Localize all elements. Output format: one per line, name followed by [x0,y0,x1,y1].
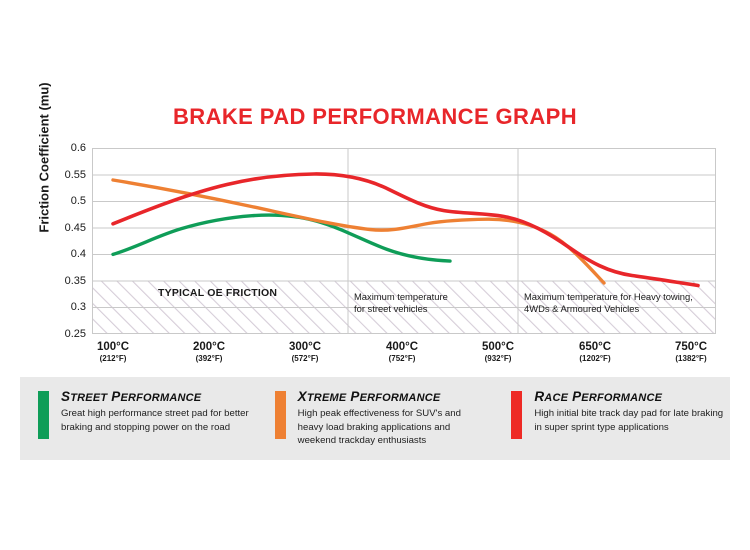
y-tick-label: 0.25 [44,328,86,340]
street-limit-label: Maximum temperature for street vehicles [354,291,514,315]
legend: STREET PERFORMANCE Great high performanc… [20,377,730,460]
x-tick-celsius: 400°C [357,341,447,353]
x-tick-celsius: 100°C [68,341,158,353]
x-tick-200c: 200°C (392°F) [164,341,254,363]
legend-item-xtreme: XTREME PERFORMANCE High peak effectivene… [257,377,494,460]
legend-desc-race: High initial bite track day pad for late… [534,407,724,434]
x-tick-celsius: 200°C [164,341,254,353]
x-tick-fahrenheit: (932°F) [453,354,543,363]
y-tick-label: 0.6 [44,142,86,154]
legend-swatch-race [511,391,522,439]
x-tick-100c: 100°C (212°F) [68,341,158,363]
legend-title-street: STREET PERFORMANCE [61,389,251,404]
legend-desc-street: Great high performance street pad for be… [61,407,251,434]
legend-swatch-street [38,391,49,439]
x-tick-celsius: 650°C [550,341,640,353]
y-axis-ticks: 0.6 0.55 0.5 0.45 0.4 0.35 0.3 0.25 [40,148,86,334]
y-tick-label: 0.55 [44,169,86,181]
x-tick-fahrenheit: (1382°F) [646,354,736,363]
x-tick-300c: 300°C (572°F) [260,341,350,363]
legend-desc-xtreme: High peak effectiveness for SUV's and he… [298,407,488,448]
legend-text-street: STREET PERFORMANCE Great high performanc… [61,389,251,434]
x-tick-fahrenheit: (1202°F) [550,354,640,363]
y-tick-label: 0.4 [44,248,86,260]
y-tick-label: 0.5 [44,195,86,207]
chart-page: BRAKE PAD PERFORMANCE GRAPH Friction Coe… [0,0,750,550]
x-tick-500c: 500°C (932°F) [453,341,543,363]
x-tick-fahrenheit: (392°F) [164,354,254,363]
y-tick-label: 0.35 [44,275,86,287]
legend-title-xtreme: XTREME PERFORMANCE [298,389,488,404]
plot-area: TYPICAL OE FRICTION Maximum temperature … [92,148,716,334]
x-tick-fahrenheit: (752°F) [357,354,447,363]
legend-text-race: RACE PERFORMANCE High initial bite track… [534,389,724,434]
series-line-race [113,174,698,286]
y-tick-label: 0.45 [44,222,86,234]
x-tick-fahrenheit: (572°F) [260,354,350,363]
x-tick-400c: 400°C (752°F) [357,341,447,363]
legend-item-race: RACE PERFORMANCE High initial bite track… [493,377,730,460]
legend-item-street: STREET PERFORMANCE Great high performanc… [20,377,257,460]
x-tick-fahrenheit: (212°F) [68,354,158,363]
legend-title-race: RACE PERFORMANCE [534,389,724,404]
x-tick-celsius: 500°C [453,341,543,353]
x-tick-celsius: 300°C [260,341,350,353]
x-tick-750c: 750°C (1382°F) [646,341,736,363]
heavy-limit-label: Maximum temperature for Heavy towing, 4W… [524,291,724,315]
x-tick-650c: 650°C (1202°F) [550,341,640,363]
legend-text-xtreme: XTREME PERFORMANCE High peak effectivene… [298,389,488,448]
x-axis-ticks: 100°C (212°F) 200°C (392°F) 300°C (572°F… [92,341,716,371]
legend-swatch-xtreme [275,391,286,439]
y-tick-label: 0.3 [44,301,86,313]
x-tick-celsius: 750°C [646,341,736,353]
oe-band-label: TYPICAL OE FRICTION [158,287,277,299]
page-title: BRAKE PAD PERFORMANCE GRAPH [0,104,750,130]
